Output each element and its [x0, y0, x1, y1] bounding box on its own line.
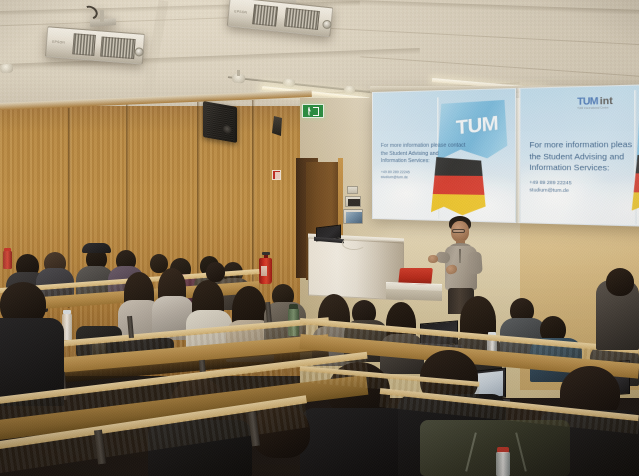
student-head	[606, 268, 634, 296]
av-control-panel[interactable]	[347, 186, 358, 194]
projector-vent	[252, 4, 278, 26]
slide-text-left: For more information please contact the …	[381, 142, 466, 166]
speaker-grill	[205, 103, 235, 140]
slide-contact-right: +49 89 289 22245 studium@tum.de	[529, 180, 571, 195]
projector-lens	[134, 47, 144, 57]
thermos-cap	[289, 304, 298, 309]
projector-vent	[72, 33, 96, 56]
tum-flag-wordmark: TUM	[456, 113, 499, 141]
screen-panel-right: TUM int TUM International Center TUM For…	[519, 84, 639, 228]
spotlight-stem	[237, 70, 240, 76]
projector-left: EPSON	[46, 24, 144, 64]
extinguisher-label	[261, 266, 267, 276]
slide-line-3: Information Services:	[381, 158, 466, 166]
presenter-arm-right	[467, 252, 483, 275]
tum-int-logo: TUM int TUM International Center	[577, 95, 613, 107]
student-cap	[82, 243, 111, 253]
wall-panel-seam	[197, 102, 200, 302]
projector-brand-label: EPSON	[52, 40, 65, 45]
presenter-hand-left	[428, 255, 438, 263]
running-person-icon	[308, 107, 311, 116]
spotlight	[0, 64, 13, 74]
confidence-monitor-screen	[346, 212, 362, 223]
water-bottle	[3, 251, 12, 269]
projector-vent	[284, 8, 320, 30]
extinguisher-body	[259, 258, 272, 284]
tum-logo-mark: TUM	[577, 96, 598, 107]
av-wall-panel-screen	[348, 199, 360, 206]
screen-panel-left: TUM For more information please contact …	[372, 88, 516, 223]
projector-pole	[100, 10, 104, 22]
emergency-exit-sign	[302, 104, 324, 118]
slide-text-right: For more information pleas the Student A…	[529, 139, 632, 175]
projector-vent	[100, 37, 135, 60]
slide-line-2: the Student Advising and	[381, 150, 466, 158]
int-logo-mark: int	[600, 95, 613, 106]
wall-speaker	[203, 101, 237, 143]
tum-logo-subtitle: TUM International Center	[577, 106, 609, 110]
slide-contact-left: +49 89 289 22245 studium@tum.de	[381, 170, 410, 181]
student-head	[206, 262, 225, 282]
slide-line-1: For more information pleas	[529, 139, 632, 151]
lecture-hall-photo: EPSON EPSON	[0, 0, 639, 476]
projector-lens	[322, 20, 332, 30]
slide-email: studium@tum.de	[529, 187, 571, 195]
presenter-zipper	[459, 249, 461, 263]
projection-screen: TUM For more information please contact …	[372, 84, 639, 228]
slide-line-2: the Student Advising and	[529, 151, 632, 163]
av-wall-panel[interactable]	[345, 196, 361, 207]
presenter-glasses	[452, 229, 465, 233]
wall-panel-seam	[252, 100, 255, 295]
spotlight	[283, 78, 296, 87]
slide-email: studium@tum.de	[381, 175, 410, 181]
projector-body: EPSON	[45, 26, 145, 65]
spotlight	[344, 85, 356, 94]
fire-alarm-sign	[272, 170, 281, 180]
backpack	[420, 420, 570, 476]
slide-line-1: For more information please contact	[381, 142, 466, 150]
projector-right: EPSON	[228, 0, 332, 40]
lectern-cable	[342, 237, 366, 250]
fire-extinguisher	[259, 252, 272, 284]
slide-line-3: Information Services:	[529, 163, 632, 175]
projector-brand-label: EPSON	[234, 9, 247, 14]
water-bottle	[496, 452, 510, 476]
confidence-monitor[interactable]	[343, 209, 363, 224]
exit-door-icon	[313, 107, 319, 116]
projector-body: EPSON	[227, 0, 334, 37]
